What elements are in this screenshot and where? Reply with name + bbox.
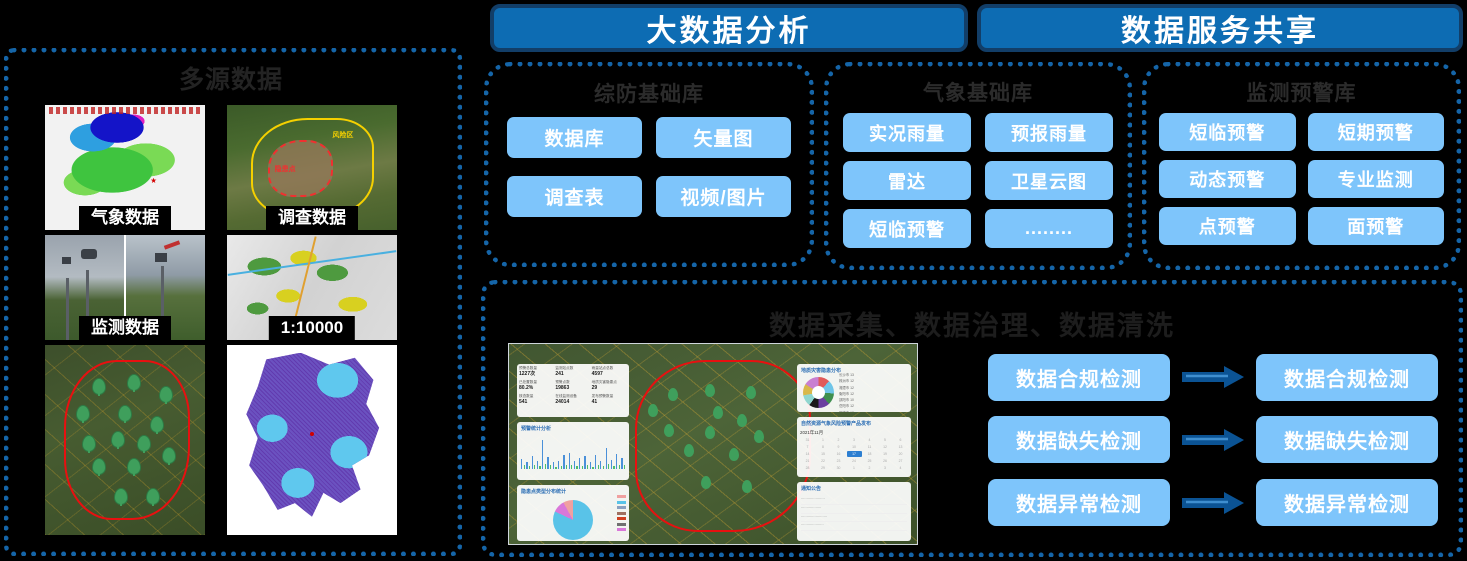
pie-legend (617, 495, 626, 534)
thumbnail-caption: 调查数据 (266, 206, 358, 230)
calendar-day[interactable]: 8 (816, 444, 831, 450)
bar-primary (558, 461, 559, 469)
chip-database[interactable]: 数据库 (507, 117, 642, 158)
calendar-day[interactable]: 5 (878, 437, 893, 443)
list-item[interactable]: ···················· (801, 522, 907, 531)
flow-arrow-icon (1182, 429, 1244, 451)
bar-secondary (592, 467, 593, 469)
kpi-item: 发布预警数量41 (592, 394, 627, 407)
legend-swatch (617, 517, 626, 520)
flow-chip-target-compliance[interactable]: 数据合规检测 (1256, 354, 1438, 401)
density-region-shape (241, 353, 384, 524)
thumbnail-grid: 气象数据 风险区 隐患点 调查数据 监测数据 (45, 105, 427, 535)
library-title: 气象基础库 (829, 77, 1127, 107)
bar-secondary (576, 466, 577, 469)
calendar-day[interactable]: 7 (800, 444, 815, 450)
calendar-day[interactable]: 1 (816, 437, 831, 443)
calendar-month-label: 2021年11月 (800, 430, 908, 436)
legend-swatch (617, 512, 626, 515)
bar-primary (537, 461, 538, 469)
kpi-label: 发布预警数量 (592, 394, 614, 398)
calendar-day[interactable]: 26 (878, 458, 893, 464)
station-pin-icon (729, 448, 739, 461)
bar-primary (611, 460, 612, 469)
calendar-day[interactable]: 4 (862, 437, 877, 443)
flow-arrow-icon (1182, 492, 1244, 514)
calendar-day[interactable]: 11 (862, 444, 877, 450)
bar-primary (521, 459, 522, 469)
bar-secondary (582, 466, 583, 469)
station-pin-icon (160, 387, 172, 402)
bar-chart (517, 433, 629, 471)
chip-video-image[interactable]: 视频/图片 (656, 176, 791, 217)
bar-secondary (624, 465, 625, 469)
thumbnail-satellite-station-map[interactable] (45, 345, 205, 535)
bar-primary (526, 462, 527, 469)
kpi-label: 已处置数量 (519, 380, 537, 384)
calendar-day[interactable]: 3 (847, 437, 862, 443)
kpi-item: 核查数量541 (519, 394, 554, 407)
thumbnail-caption: 气象数据 (79, 206, 171, 230)
kpi-label: 预警点数 (555, 380, 569, 384)
calendar-day[interactable]: 31 (800, 437, 815, 443)
library-chip-grid: 实况雨量 预报雨量 雷达 卫星云图 短临预警 ........ (829, 113, 1127, 248)
chip-nowcast-warning[interactable]: 短临预警 (843, 209, 971, 248)
satellite-station-map-image (45, 345, 205, 535)
calendar-day[interactable]: 2 (831, 437, 846, 443)
station-pin-icon (746, 386, 756, 399)
calendar-day[interactable]: 30 (831, 465, 846, 471)
flow-chip-source-compliance[interactable]: 数据合规检测 (988, 354, 1170, 401)
calendar-day[interactable]: 24 (847, 458, 862, 464)
flow-arrow-icon (1182, 366, 1244, 388)
chip-more-ellipsis[interactable]: ........ (985, 209, 1113, 248)
calendar-day[interactable]: 20 (893, 451, 908, 457)
banner-data-service-sharing[interactable]: 数据服务共享 (977, 4, 1463, 52)
calendar-day[interactable]: 6 (893, 437, 908, 443)
bar-secondary (587, 465, 588, 469)
station-pin-icon (77, 406, 89, 421)
calendar-day-grid[interactable]: 3112345678910111213141516171819202122232… (800, 437, 908, 471)
calendar-day[interactable]: 18 (862, 451, 877, 457)
kpi-label: 地质灾害隐患点 (592, 380, 617, 384)
station-pin-icon (701, 476, 711, 489)
calendar-day[interactable]: 19 (878, 451, 893, 457)
station-pin-icon (138, 436, 150, 451)
calendar-day[interactable]: 9 (831, 444, 846, 450)
kpi-item: 预警总数量1227次 (519, 366, 554, 379)
chip-satellite-cloud[interactable]: 卫星云图 (985, 161, 1113, 200)
chip-dynamic-warning[interactable]: 动态预警 (1159, 160, 1296, 198)
bar-secondary (619, 465, 620, 469)
library-box-meteorological: 气象基础库 实况雨量 预报雨量 雷达 卫星云图 短临预警 ........ (824, 62, 1132, 270)
kpi-item: 预警点数19863 (555, 380, 590, 393)
bar-secondary (550, 465, 551, 469)
station-pin-icon (648, 404, 658, 417)
bar-secondary (529, 466, 530, 469)
chip-professional-monitoring[interactable]: 专业监测 (1308, 160, 1445, 198)
dashboard-screenshot[interactable]: 预警总数量1227次 监测站点数241 雨量站点总数4597 已处置数量80.2… (508, 343, 918, 545)
thumbnail-caption: 监测数据 (79, 316, 171, 340)
dashboard-bar-chart-card[interactable]: 预警统计分析 (517, 422, 629, 480)
legend-swatch (617, 506, 626, 509)
dashboard-calendar-card[interactable]: 自然资源气象风险预警产品发布 2021年11月 3112345678910111… (797, 417, 911, 477)
kpi-item: 监测站点数241 (555, 366, 590, 379)
thumbnail-topographic-map[interactable]: 1:10000 (227, 235, 397, 340)
kpi-value: 241 (555, 371, 590, 379)
bar-primary (621, 458, 622, 469)
card-title: 预警统计分析 (517, 422, 629, 433)
thumbnail-survey-data[interactable]: 风险区 隐患点 调查数据 (227, 105, 397, 230)
chip-short-term-warning[interactable]: 短期预警 (1308, 113, 1445, 151)
bar-primary (563, 455, 564, 469)
bar-primary (532, 456, 533, 469)
flow-chip-source-anomaly[interactable]: 数据异常检测 (988, 479, 1170, 526)
flow-chip-target-missing[interactable]: 数据缺失检测 (1256, 416, 1438, 463)
calendar-day[interactable]: 12 (878, 444, 893, 450)
bar-secondary (571, 465, 572, 469)
dashboard-donut-chart-card[interactable]: 地质灾害隐患分布 长沙市 13株洲市 12湘潭市 12衡阳市 12邵阳市 10岳… (797, 364, 911, 412)
library-box-monitoring-warning: 监测预警库 短临预警 短期预警 动态预警 专业监测 点预警 面预警 (1142, 62, 1461, 270)
legend-swatch (617, 528, 626, 531)
station-pin-icon (668, 388, 678, 401)
legend-swatch (617, 501, 626, 504)
kpi-value: 24014 (555, 399, 590, 407)
chip-radar[interactable]: 雷达 (843, 161, 971, 200)
bar-primary (595, 455, 596, 469)
kpi-value: 29 (592, 385, 627, 393)
calendar-day[interactable]: 3 (878, 465, 893, 471)
list-item[interactable]: ·················· (801, 505, 907, 514)
bar-secondary (534, 465, 535, 469)
bar-secondary (545, 464, 546, 469)
bar-primary (579, 458, 580, 469)
station-sensor-box (155, 253, 167, 262)
station-pin-icon (128, 459, 140, 474)
bar-secondary (555, 467, 556, 469)
thumbnail-population-density-map[interactable] (227, 345, 397, 535)
kpi-value: 41 (592, 399, 627, 407)
notice-list[interactable]: ····················· ··················… (797, 493, 911, 534)
card-title: 自然资源气象风险预警产品发布 (797, 417, 911, 428)
station-pin-icon (151, 417, 163, 432)
calendar-day[interactable]: 25 (862, 458, 877, 464)
kpi-value: 80.2% (519, 385, 554, 393)
kpi-label: 监测站点数 (555, 366, 573, 370)
chip-survey-table[interactable]: 调查表 (507, 176, 642, 217)
kpi-value: 1227次 (519, 371, 554, 379)
calendar-day[interactable]: 15 (816, 451, 831, 457)
legend-swatch (617, 495, 626, 498)
chip-observed-rainfall[interactable]: 实况雨量 (843, 113, 971, 152)
thumbnail-monitoring-data[interactable]: 监测数据 (45, 235, 205, 340)
data-processing-title: 数据采集、数据治理、数据清洗 (481, 304, 1463, 343)
calendar-day[interactable]: 2 (862, 465, 877, 471)
kpi-item: 已处置数量80.2% (519, 380, 554, 393)
calendar-day[interactable]: 27 (893, 458, 908, 464)
province-boundary-outline (635, 360, 810, 532)
dashboard-kpi-card[interactable]: 预警总数量1227次 监测站点数241 雨量站点总数4597 已处置数量80.2… (517, 364, 629, 417)
station-pin-icon (754, 430, 764, 443)
calendar-day[interactable]: 23 (831, 458, 846, 464)
map-marker-icon (151, 178, 157, 184)
thumbnail-weather-data[interactable]: 气象数据 (45, 105, 205, 230)
kpi-label: 预警总数量 (519, 366, 537, 370)
library-box-comprehensive-prevention: 综防基础库 数据库 矢量图 调查表 视频/图片 (484, 62, 814, 267)
calendar-day[interactable]: 13 (893, 444, 908, 450)
bar-secondary (524, 465, 525, 469)
calendar-day[interactable]: 17 (847, 451, 862, 457)
station-pin-icon (93, 379, 105, 394)
kpi-label: 在线监测设备 (555, 394, 577, 398)
kpi-value: 4597 (592, 371, 627, 379)
calendar-day[interactable]: 14 (800, 451, 815, 457)
kpi-item: 地质灾害隐患点29 (592, 380, 627, 393)
library-title: 监测预警库 (1147, 77, 1456, 107)
bar-secondary (539, 466, 540, 469)
bar-primary (542, 440, 543, 469)
calendar-day[interactable]: 21 (800, 458, 815, 464)
kpi-item: 雨量站点总数4597 (592, 366, 627, 379)
chip-nowcast-warning[interactable]: 短临预警 (1159, 113, 1296, 151)
kpi-label: 雨量站点总数 (592, 366, 614, 370)
bar-primary (590, 462, 591, 469)
calendar-day[interactable]: 10 (847, 444, 862, 450)
calendar[interactable]: 2021年11月 3112345678910111213141516171819… (797, 428, 911, 473)
flow-chip-source-missing[interactable]: 数据缺失检测 (988, 416, 1170, 463)
library-title: 综防基础库 (489, 78, 809, 108)
calendar-day[interactable]: 1 (847, 465, 862, 471)
donut-chart (803, 377, 834, 408)
station-camera-box (81, 249, 97, 259)
station-pin-icon (713, 406, 723, 419)
calendar-day[interactable]: 29 (816, 465, 831, 471)
flow-chip-target-anomaly[interactable]: 数据异常检测 (1256, 479, 1438, 526)
chip-forecast-rainfall[interactable]: 预报雨量 (985, 113, 1113, 152)
station-pin-icon (742, 480, 752, 493)
library-chip-grid: 数据库 矢量图 调查表 视频/图片 (489, 117, 809, 217)
station-pin-icon (119, 406, 131, 421)
calendar-day[interactable]: 22 (816, 458, 831, 464)
card-title: 通知公告 (797, 482, 911, 493)
banner-big-data-analysis[interactable]: 大数据分析 (490, 4, 968, 52)
bar-primary (606, 448, 607, 469)
data-check-flow: 数据合规检测 数据合规检测 数据缺失检测 数据缺失检测 数据异常检测 数据异常检… (988, 350, 1438, 530)
kpi-grid: 预警总数量1227次 监测站点数241 雨量站点总数4597 已处置数量80.2… (517, 364, 629, 409)
bar-primary (553, 462, 554, 469)
risk-zone-label: 风险区 (332, 130, 353, 140)
dashboard-pie-chart-card[interactable]: 隐患点类型分布统计 (517, 485, 629, 541)
donut-data-table: 长沙市 13株洲市 12湘潭市 12衡阳市 12邵阳市 10岳阳市 12常德市 … (839, 372, 857, 412)
calendar-day[interactable]: 16 (831, 451, 846, 457)
kpi-value: 19863 (555, 385, 590, 393)
chip-area-warning[interactable]: 面预警 (1308, 207, 1445, 245)
bar-primary (584, 456, 585, 469)
bar-secondary (561, 466, 562, 469)
bar-primary (547, 457, 548, 470)
station-pin-icon (705, 384, 715, 397)
calendar-day[interactable]: 4 (893, 465, 908, 471)
chip-vector-map[interactable]: 矢量图 (656, 117, 791, 158)
bar-secondary (566, 465, 567, 469)
bar-primary (600, 461, 601, 469)
station-pole (66, 278, 69, 340)
multi-source-data-title: 多源数据 (0, 60, 462, 96)
bar-secondary (613, 466, 614, 469)
station-pin-icon (664, 424, 674, 437)
dashboard-notice-list-card[interactable]: 通知公告 ····················· ·············… (797, 482, 911, 541)
bar-secondary (598, 465, 599, 469)
bar-primary (616, 454, 617, 469)
card-title: 隐患点类型分布统计 (517, 485, 629, 496)
kpi-value: 541 (519, 399, 554, 407)
population-density-map-image (227, 345, 397, 535)
chip-point-warning[interactable]: 点预警 (1159, 207, 1296, 245)
kpi-item: 在线监测设备24014 (555, 394, 590, 407)
station-pin-icon (93, 459, 105, 474)
list-item[interactable]: ····················· (801, 496, 907, 505)
calendar-day[interactable]: 28 (800, 465, 815, 471)
bar-secondary (603, 466, 604, 469)
kpi-label: 核查数量 (519, 394, 533, 398)
bar-primary (574, 461, 575, 469)
legend-swatch (617, 523, 626, 526)
station-antenna (164, 240, 180, 249)
table-row: 常德市 12 (839, 410, 857, 412)
bar-primary (569, 453, 570, 469)
map-header-strip (49, 107, 201, 114)
list-item[interactable]: ······················· (801, 514, 907, 523)
thumbnail-caption: 1:10000 (269, 316, 355, 340)
pie-chart (553, 500, 593, 540)
station-sensor-box (62, 257, 71, 264)
station-pin-icon (705, 426, 715, 439)
library-chip-grid: 短临预警 短期预警 动态预警 专业监测 点预警 面预警 (1147, 113, 1456, 245)
hazard-point-label: 隐患点 (275, 164, 296, 174)
bar-secondary (608, 464, 609, 469)
